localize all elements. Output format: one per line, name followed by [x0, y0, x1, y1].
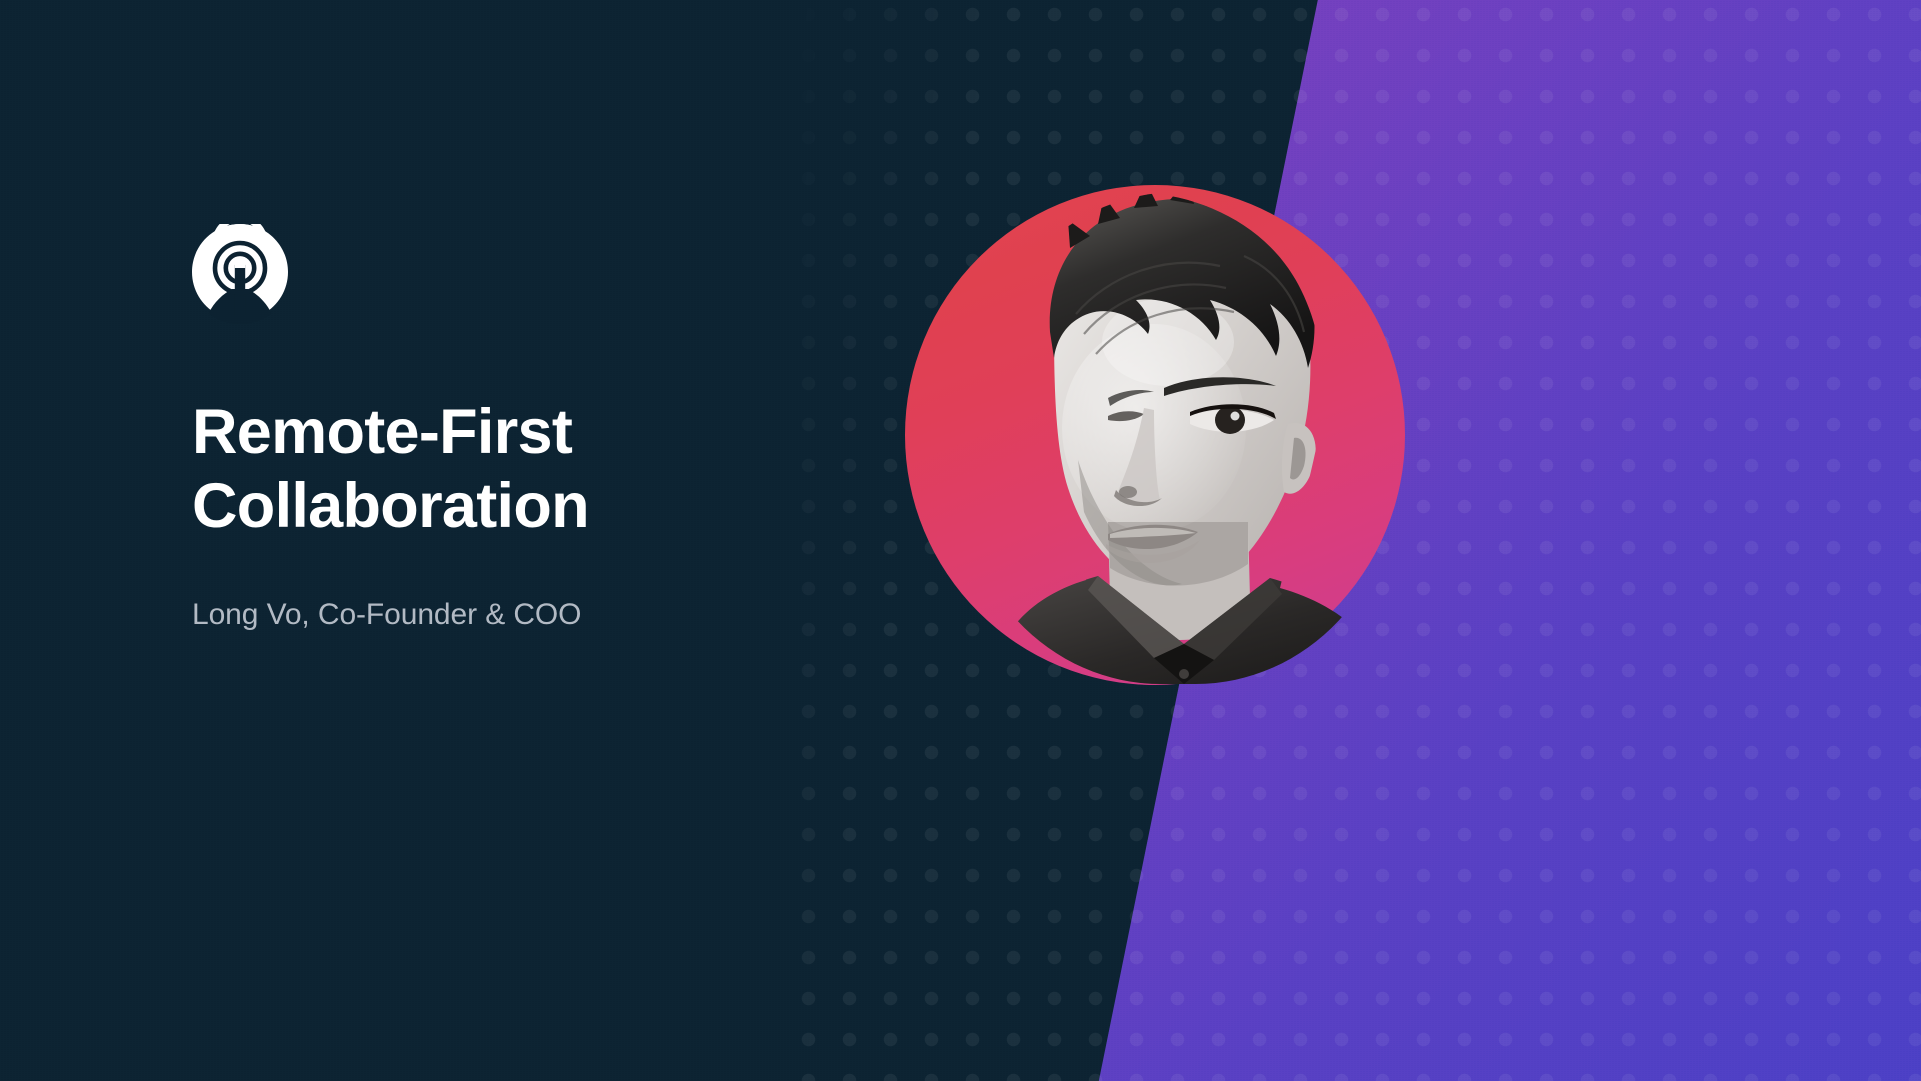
speaker-byline: Long Vo, Co-Founder & COO: [192, 543, 972, 634]
speaker-portrait: Portrait of Long Vo: [905, 185, 1405, 685]
slide-content: Remote-First Collaboration Long Vo, Co-F…: [192, 224, 972, 634]
page-title: Remote-First Collaboration: [192, 396, 972, 543]
presentation-slide: Portrait of Long Vo: [0, 0, 1921, 1081]
avatar: Portrait of Long Vo: [958, 192, 1398, 684]
brand-logo[interactable]: [192, 224, 972, 324]
broadcast-antenna-icon: [192, 224, 288, 324]
